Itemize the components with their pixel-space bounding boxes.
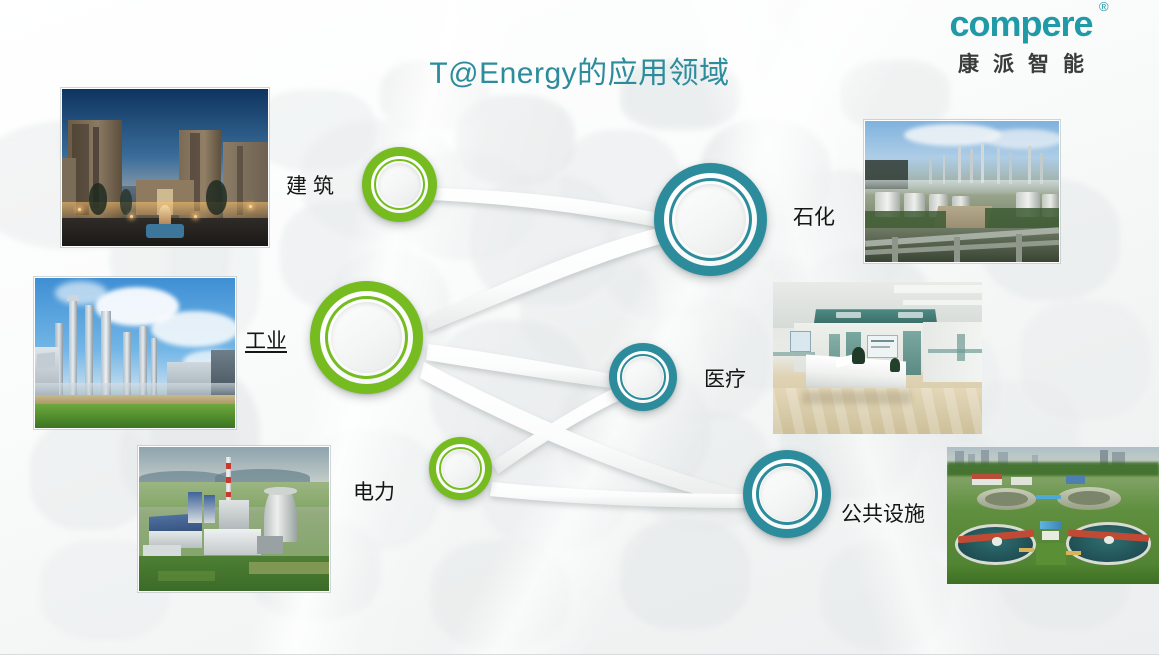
logo-chinese-name: 康派智能: [901, 48, 1141, 78]
ring-core-petrochem: [675, 184, 746, 255]
industry-photo: [34, 277, 236, 429]
label-architecture: 建 筑: [286, 170, 334, 200]
logo-wordmark-text: compere: [949, 3, 1092, 44]
label-power: 电力: [353, 476, 395, 506]
ring-core-architecture: [378, 163, 421, 206]
ring-core-power: [442, 450, 479, 487]
architecture-photo: [61, 88, 269, 247]
label-utilities: 公共设施: [841, 498, 925, 528]
node-architecture[interactable]: [362, 147, 437, 222]
node-power[interactable]: [429, 437, 492, 500]
label-medical: 医疗: [704, 363, 746, 393]
brand-logo: compere ® 康派智能: [901, 6, 1141, 78]
medical-photo: [773, 282, 982, 434]
utilities-photo: [947, 447, 1159, 584]
logo-wordmark: compere ®: [949, 6, 1092, 42]
node-petrochem[interactable]: [654, 163, 767, 276]
ring-core-utilities: [760, 467, 814, 521]
registered-trademark-icon: ®: [1099, 0, 1108, 13]
node-medical[interactable]: [609, 343, 677, 411]
slide-canvas: T@Energy的应用领域 compere ® 康派智能: [0, 0, 1159, 655]
node-utilities[interactable]: [743, 450, 831, 538]
power-photo: [138, 446, 330, 592]
label-petrochem: 石化: [793, 201, 835, 231]
ring-core-medical: [623, 357, 663, 397]
label-industry[interactable]: 工业: [245, 325, 287, 355]
node-industry[interactable]: [310, 281, 423, 394]
petrochem-photo: [864, 120, 1060, 263]
ring-core-industry: [331, 302, 402, 373]
